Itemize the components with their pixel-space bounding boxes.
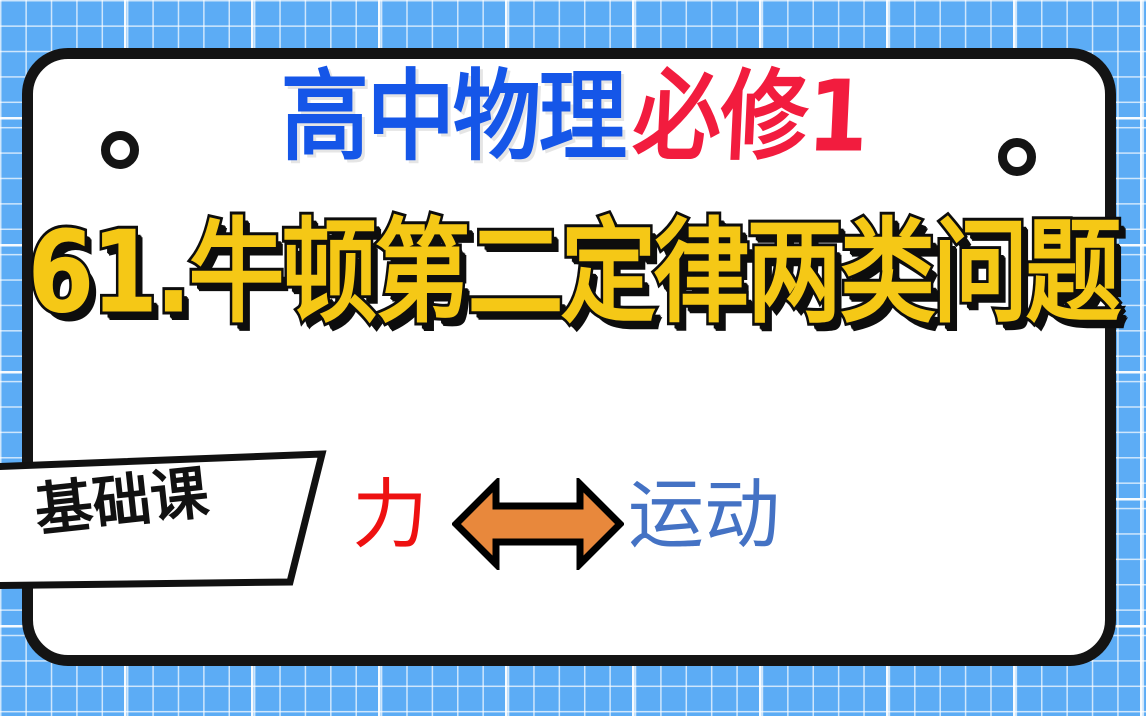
basic-course-badge: 基础课 xyxy=(0,446,370,594)
page-title-text: 61.牛顿第二定律两类问题 xyxy=(27,216,1118,329)
header-line: 高中物理必修1 xyxy=(0,78,1146,166)
basic-course-badge-label: 基础课 xyxy=(32,463,211,539)
force-motion-relation: 力 运动 xyxy=(352,470,822,570)
thumbnail-canvas: 高中物理必修1 61.牛顿第二定律两类问题 力 运动 基础课 xyxy=(0,0,1146,716)
volume-label: 必修1 xyxy=(631,67,870,166)
double-headed-arrow-icon xyxy=(452,478,624,570)
motion-term-label: 运动 xyxy=(628,470,780,560)
subject-label: 高中物理 xyxy=(281,67,625,166)
page-title: 61.牛顿第二定律两类问题 xyxy=(0,216,1146,312)
